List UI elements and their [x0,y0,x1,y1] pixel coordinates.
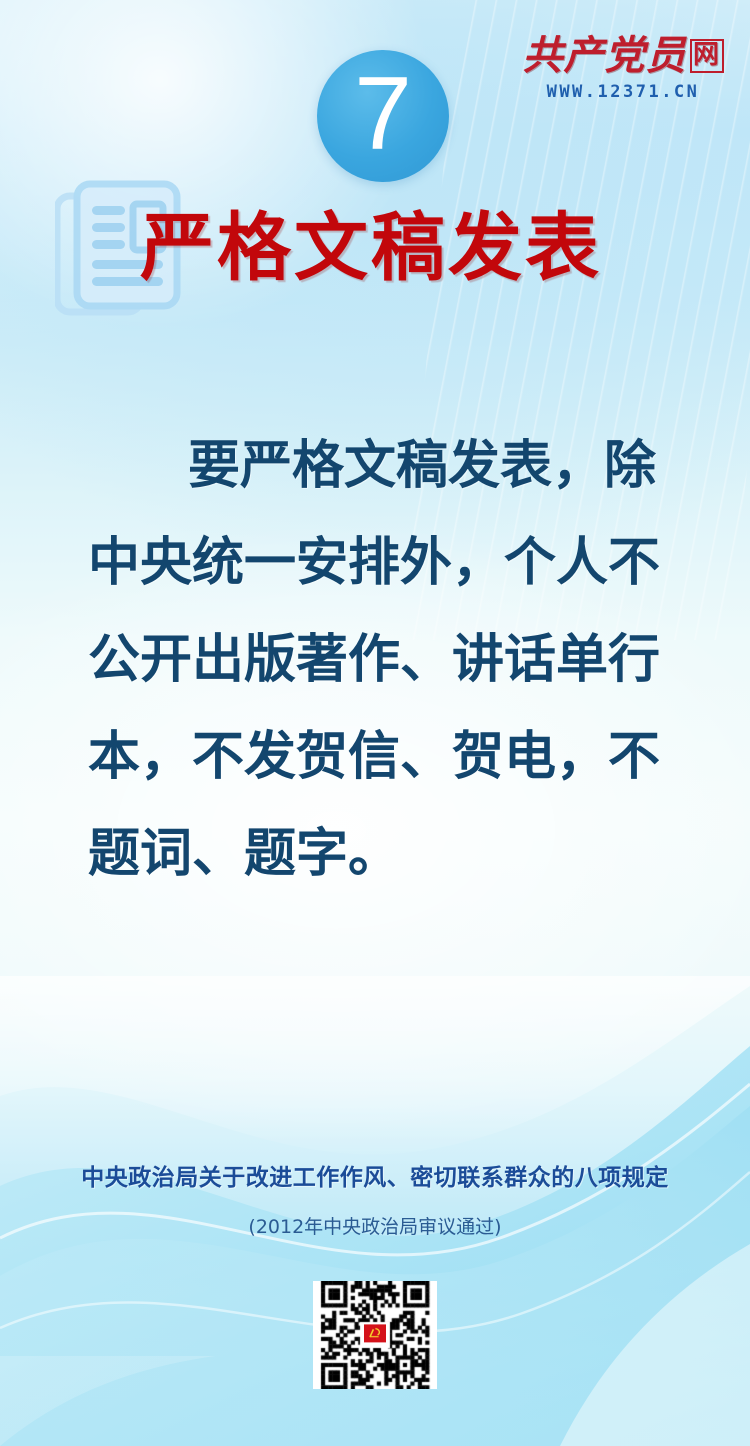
site-logo[interactable]: 共产党员网 WWW.12371.CN [518,36,728,102]
party-emblem-icon [363,1323,387,1343]
body-paragraph: 要严格文稿发表，除中央统一安排外，个人不公开出版著作、讲话单行本，不发贺信、贺电… [88,418,678,903]
poster-root: 共产党员网 WWW.12371.CN 7 严格文稿发表 要严格文稿发表，除中央统… [0,0,750,1446]
logo-net-char: 网 [690,39,724,73]
page-title: 严格文稿发表 [140,205,602,291]
item-number-value: 7 [317,62,449,166]
logo-brand-text: 共产党员 [523,32,687,79]
regulation-subtitle: (2012年中央政治局审议通过) [0,1212,750,1239]
logo-url: WWW.12371.CN [518,82,728,102]
logo-wordmark: 共产党员网 [518,36,728,76]
item-number-badge: 7 [317,50,449,182]
qr-code[interactable] [313,1281,437,1389]
regulation-title: 中央政治局关于改进工作作风、密切联系群众的八项规定 [0,1158,750,1192]
